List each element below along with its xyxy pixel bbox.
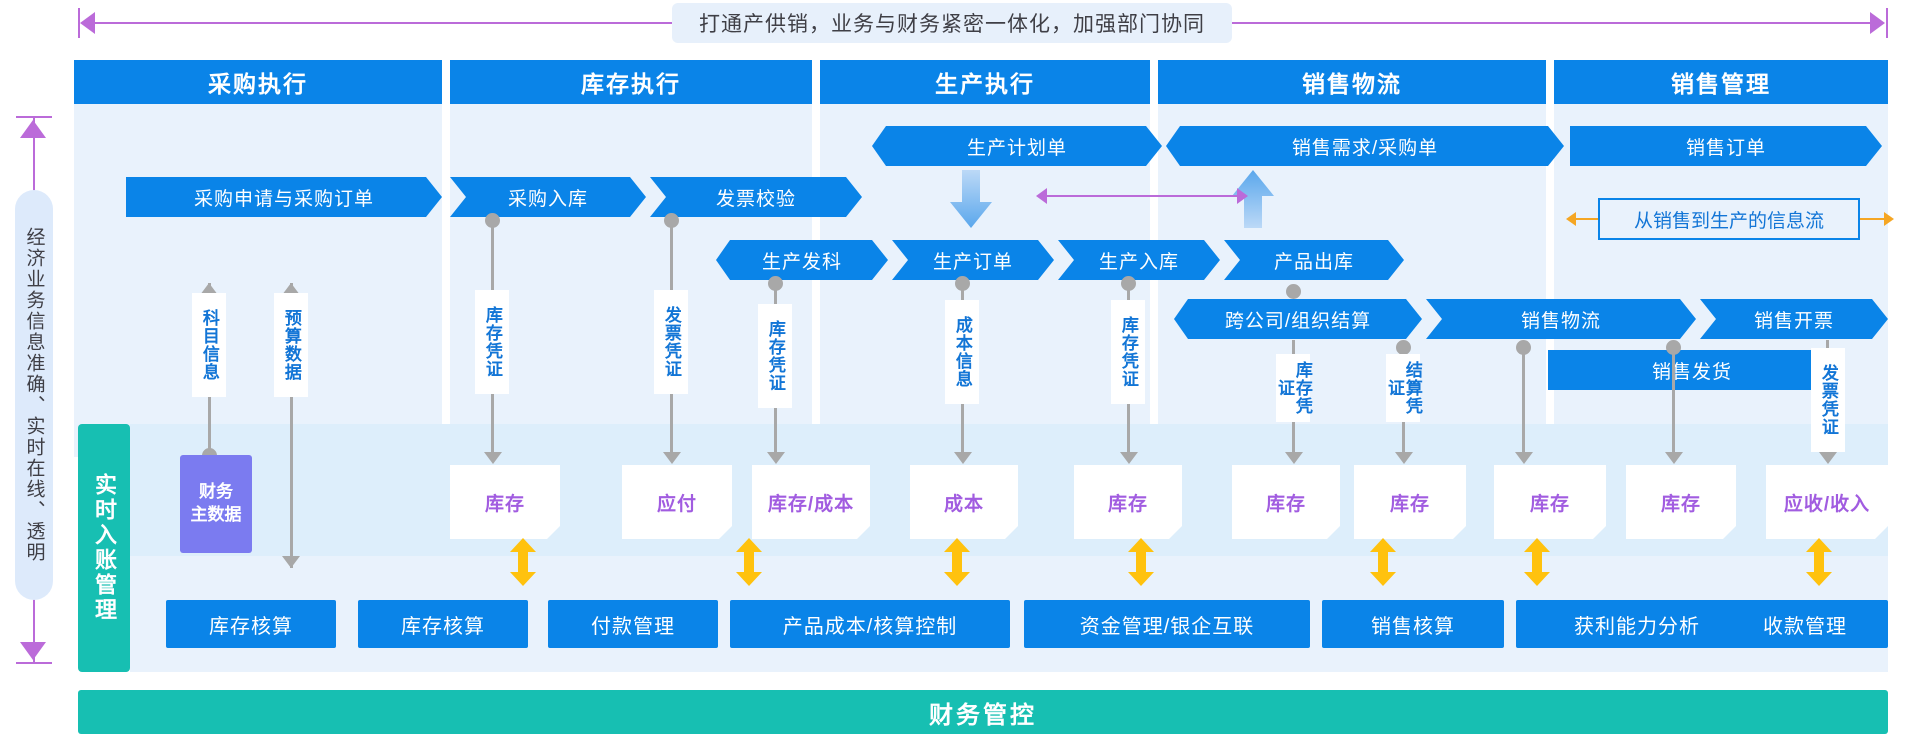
double-arrow-icon <box>1806 538 1832 586</box>
master-data-line2: 主数据 <box>191 504 242 527</box>
flow-production-issue[interactable]: 生产发科 <box>716 240 888 280</box>
card-inventory[interactable]: 库存 <box>1626 465 1736 539</box>
flow-production-order[interactable]: 生产订单 <box>892 240 1054 280</box>
left-axis-label: 经济业务信息准确、实时在线、透明 <box>15 190 53 600</box>
flow-production-receipt[interactable]: 生产入库 <box>1058 240 1220 280</box>
double-arrow-icon <box>1524 538 1550 586</box>
double-arrow-icon <box>510 538 536 586</box>
banner-line-left <box>95 22 677 24</box>
double-arrow-icon <box>1370 538 1396 586</box>
top-banner-text: 打通产供销，业务与财务紧密一体化，加强部门协同 <box>672 3 1232 43</box>
arrow-up-icon <box>20 120 46 138</box>
realtime-posting-band: 实时入账管理 <box>78 424 130 672</box>
connector-arrow-down-icon <box>1395 452 1413 464</box>
flow-invoice-verification[interactable]: 发票校验 <box>650 177 862 217</box>
double-arrow-icon <box>736 538 762 586</box>
top-banner: 打通产供销，业务与财务紧密一体化，加强部门协同 <box>0 0 1905 46</box>
arrow-down-icon <box>20 642 46 660</box>
banner-right-cap <box>1886 8 1888 38</box>
connector-line <box>1522 346 1525 460</box>
tag-budget-data: 预算数据 <box>274 293 308 397</box>
flow-sales-invoicing[interactable]: 销售开票 <box>1700 299 1888 339</box>
banner-line-right <box>1232 22 1870 24</box>
card-inventory[interactable]: 库存 <box>1494 465 1606 539</box>
connector-arrow-down-icon <box>1819 452 1837 464</box>
module-inventory-accounting[interactable]: 库存核算 <box>166 600 336 648</box>
purple-arrow-right-icon <box>1237 188 1248 204</box>
connector-arrow-down-icon <box>282 556 300 568</box>
connector-arrow-down-icon <box>1120 452 1138 464</box>
connector-arrow-down-icon <box>1665 452 1683 464</box>
tag-inventory-voucher: 库存凭证 <box>1111 300 1145 404</box>
connector-dot <box>1286 284 1301 299</box>
tag-inventory-voucher: 库存凭证 <box>1276 354 1310 422</box>
column-body-purchase <box>74 104 442 457</box>
tag-invoice-voucher: 发票凭证 <box>1811 348 1845 452</box>
card-receivable-revenue[interactable]: 应收/收入 <box>1766 465 1888 539</box>
connector-arrow-down-icon <box>1285 452 1303 464</box>
tag-invoice-voucher: 发票凭证 <box>654 290 688 394</box>
flow-production-plan[interactable]: 生产计划单 <box>872 126 1162 166</box>
card-payable[interactable]: 应付 <box>622 465 732 539</box>
master-data-line1: 财务 <box>199 481 233 504</box>
connector-arrow-down-icon <box>663 452 681 464</box>
left-axis: 经济业务信息准确、实时在线、透明 <box>12 108 56 668</box>
flow-sales-order[interactable]: 销售订单 <box>1570 126 1882 166</box>
diagram-canvas: 打通产供销，业务与财务紧密一体化，加强部门协同 经济业务信息准确、实时在线、透明… <box>0 0 1905 739</box>
module-payment-management[interactable]: 付款管理 <box>548 600 718 648</box>
info-flow-line-right <box>1860 218 1884 220</box>
connector-arrow-down-icon <box>1515 452 1533 464</box>
info-flow-arrow-right-icon <box>1884 212 1894 226</box>
connector-arrow-down-icon <box>767 452 785 464</box>
connector-arrow-down-icon <box>954 452 972 464</box>
column-header-purchase: 采购执行 <box>74 60 442 104</box>
info-flow-line-left <box>1576 218 1600 220</box>
flow-sales-logistics[interactable]: 销售物流 <box>1426 299 1696 339</box>
info-flow-arrow-left-icon <box>1566 212 1576 226</box>
purple-connector-line <box>1047 195 1237 197</box>
column-header-production: 生产执行 <box>820 60 1150 104</box>
connector-arrow-down-icon <box>484 452 502 464</box>
flow-sales-delivery[interactable]: 销售发货 <box>1548 350 1836 390</box>
tag-account-info: 科目信息 <box>192 293 226 397</box>
tag-inventory-voucher: 库存凭证 <box>475 290 509 394</box>
column-header-inventory: 库存执行 <box>450 60 812 104</box>
module-sales-accounting[interactable]: 销售核算 <box>1322 600 1504 648</box>
flow-product-issue[interactable]: 产品出库 <box>1224 240 1404 280</box>
info-flow-label: 从销售到生产的信息流 <box>1598 198 1860 240</box>
axis-bottom-cap <box>16 662 52 664</box>
double-arrow-icon <box>1128 538 1154 586</box>
card-inventory-cost[interactable]: 库存/成本 <box>752 465 870 539</box>
flow-intercompany-settlement[interactable]: 跨公司/组织结算 <box>1174 299 1422 339</box>
footer-bar: 财务管控 <box>78 690 1888 734</box>
flow-purchase-request[interactable]: 采购申请与采购订单 <box>126 177 442 217</box>
card-cost[interactable]: 成本 <box>910 465 1018 539</box>
module-treasury-bank-integration[interactable]: 资金管理/银企互联 <box>1024 600 1310 648</box>
arrow-down-thick-icon <box>950 170 992 228</box>
purple-arrow-left-icon <box>1036 188 1047 204</box>
card-inventory[interactable]: 库存 <box>1074 465 1182 539</box>
module-product-cost-control[interactable]: 产品成本/核算控制 <box>730 600 1010 648</box>
card-inventory[interactable]: 库存 <box>450 465 560 539</box>
tag-cost-info: 成本信息 <box>945 300 979 404</box>
module-inventory-accounting[interactable]: 库存核算 <box>358 600 528 648</box>
card-inventory[interactable]: 库存 <box>1232 465 1340 539</box>
tag-inventory-voucher: 库存凭证 <box>758 304 792 408</box>
column-purchase: 采购执行 <box>74 60 442 457</box>
module-receipt-management[interactable]: 收款管理 <box>1722 600 1888 648</box>
card-inventory[interactable]: 库存 <box>1354 465 1466 539</box>
master-data-box: 财务 主数据 <box>180 455 252 553</box>
column-header-sales: 销售管理 <box>1554 60 1888 104</box>
flow-purchase-receipt[interactable]: 采购入库 <box>450 177 646 217</box>
column-header-logistics: 销售物流 <box>1158 60 1546 104</box>
double-arrow-icon <box>944 538 970 586</box>
flow-sales-demand[interactable]: 销售需求/采购单 <box>1166 126 1564 166</box>
connector-line <box>1672 346 1675 460</box>
arrow-left-icon <box>80 12 95 34</box>
arrow-right-icon <box>1870 12 1885 34</box>
tag-settlement-voucher: 结算凭证 <box>1386 354 1420 422</box>
